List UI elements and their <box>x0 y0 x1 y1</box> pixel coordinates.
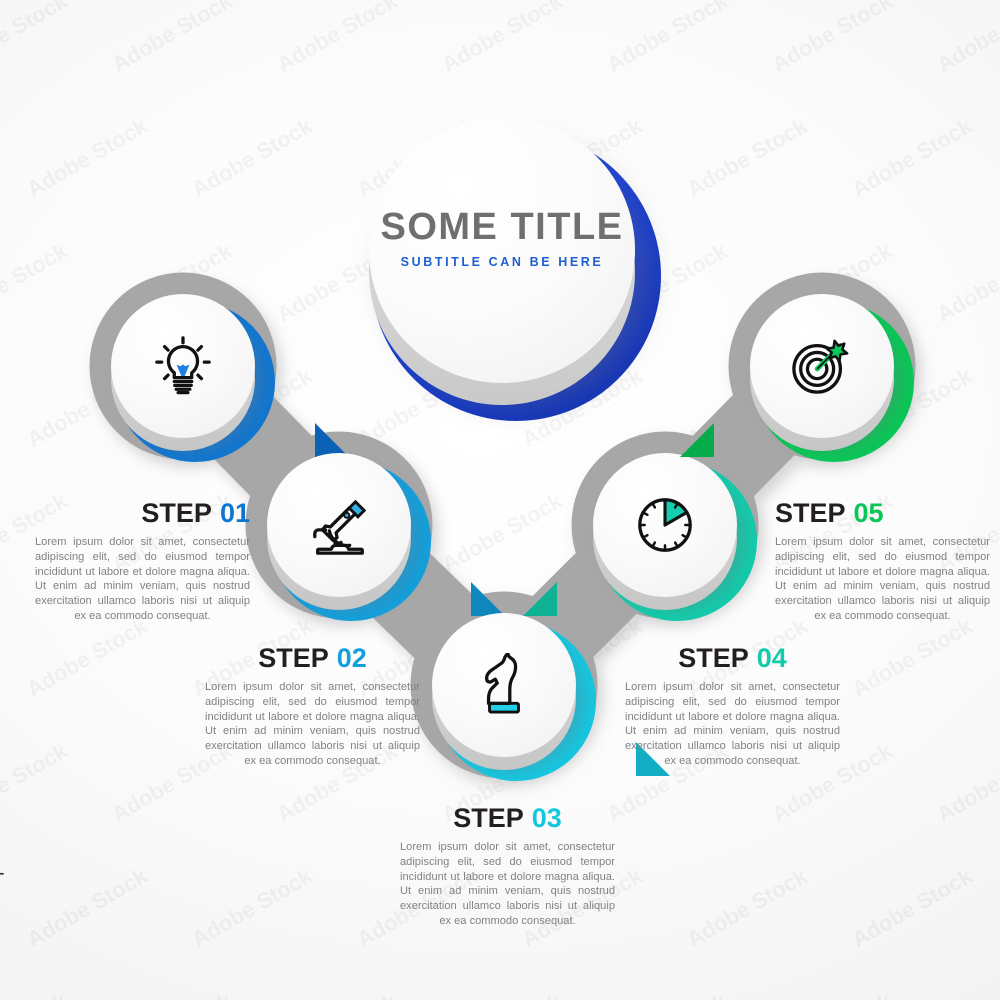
caption-body-step-02: Lorem ipsum dolor sit amet, consectetur … <box>205 680 420 769</box>
caption-label: STEP <box>775 498 846 528</box>
caption-step-04: STEP04 Lorem ipsum dolor sit amet, conse… <box>625 645 840 769</box>
hub-text-block: SOME TITLE SUBTITLE CAN BE HERE <box>369 208 635 269</box>
caption-body-step-03: Lorem ipsum dolor sit amet, consectetur … <box>400 840 615 929</box>
caption-number: 01 <box>220 498 250 528</box>
caption-title-step-03: STEP03 <box>400 805 615 832</box>
caption-number: 03 <box>532 803 562 833</box>
caption-number: 05 <box>854 498 884 528</box>
caption-label: STEP <box>258 643 329 673</box>
caption-title-step-05: STEP05 <box>775 500 990 527</box>
step-bubble-tail <box>680 423 714 457</box>
step-bubble-tail <box>471 582 505 616</box>
caption-label: STEP <box>141 498 212 528</box>
step-bubble-tail <box>523 582 557 616</box>
stock-watermark-id: Adobe Stock | #463615419 <box>0 757 4 990</box>
page-subtitle: SUBTITLE CAN BE HERE <box>369 255 635 269</box>
caption-step-01: STEP01 Lorem ipsum dolor sit amet, conse… <box>35 500 250 624</box>
caption-body-step-04: Lorem ipsum dolor sit amet, consectetur … <box>625 680 840 769</box>
caption-number: 02 <box>337 643 367 673</box>
caption-title-step-01: STEP01 <box>35 500 250 527</box>
infographic-canvas: Adobe StockAdobe StockAdobe StockAdobe S… <box>0 0 1000 1000</box>
caption-step-05: STEP05 Lorem ipsum dolor sit amet, conse… <box>775 500 990 624</box>
hub-disc-top: SOME TITLE SUBTITLE CAN BE HERE <box>369 117 635 383</box>
caption-number: 04 <box>757 643 787 673</box>
clock-timer-icon <box>593 453 737 597</box>
microscope-icon <box>267 453 411 597</box>
page-title: SOME TITLE <box>369 208 635 246</box>
caption-title-step-02: STEP02 <box>205 645 420 672</box>
target-dart-icon <box>750 294 894 438</box>
caption-step-02: STEP02 Lorem ipsum dolor sit amet, conse… <box>205 645 420 769</box>
chess-knight-icon <box>432 613 576 757</box>
lightbulb-icon <box>111 294 255 438</box>
caption-body-step-05: Lorem ipsum dolor sit amet, consectetur … <box>775 535 990 624</box>
caption-label: STEP <box>453 803 524 833</box>
caption-step-03: STEP03 Lorem ipsum dolor sit amet, conse… <box>400 805 615 929</box>
caption-title-step-04: STEP04 <box>625 645 840 672</box>
caption-body-step-01: Lorem ipsum dolor sit amet, consectetur … <box>35 535 250 624</box>
caption-label: STEP <box>678 643 749 673</box>
